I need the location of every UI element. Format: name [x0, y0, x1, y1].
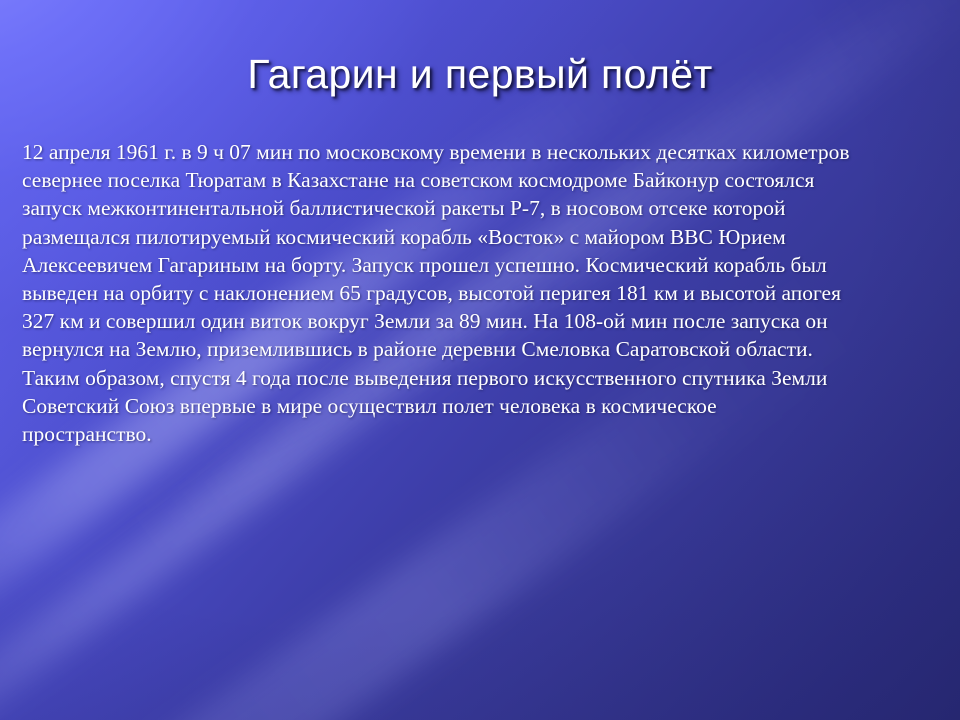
- body-line: выведен на орбиту с наклонением 65 граду…: [22, 279, 946, 307]
- body-line: 12 апреля 1961 г. в 9 ч 07 мин по москов…: [22, 138, 946, 166]
- body-line: 327 км и совершил один виток вокруг Земл…: [22, 307, 946, 335]
- body-line: пространство.: [22, 420, 946, 448]
- body-line: запуск межконтинентальной баллистической…: [22, 194, 946, 222]
- body-line: размещался пилотируемый космический кора…: [22, 223, 946, 251]
- slide-title: Гагарин и первый полёт: [0, 50, 960, 98]
- body-line: Алексеевичем Гагариным на борту. Запуск …: [22, 251, 946, 279]
- slide-body-text: 12 апреля 1961 г. в 9 ч 07 мин по москов…: [22, 138, 946, 448]
- body-line: вернулся на Землю, приземлившись в район…: [22, 335, 946, 363]
- body-line: Советский Союз впервые в мире осуществил…: [22, 392, 946, 420]
- presentation-slide: Гагарин и первый полёт 12 апреля 1961 г.…: [0, 0, 960, 720]
- body-line: Таким образом, спустя 4 года после вывед…: [22, 364, 946, 392]
- body-line: севернее поселка Тюратам в Казахстане на…: [22, 166, 946, 194]
